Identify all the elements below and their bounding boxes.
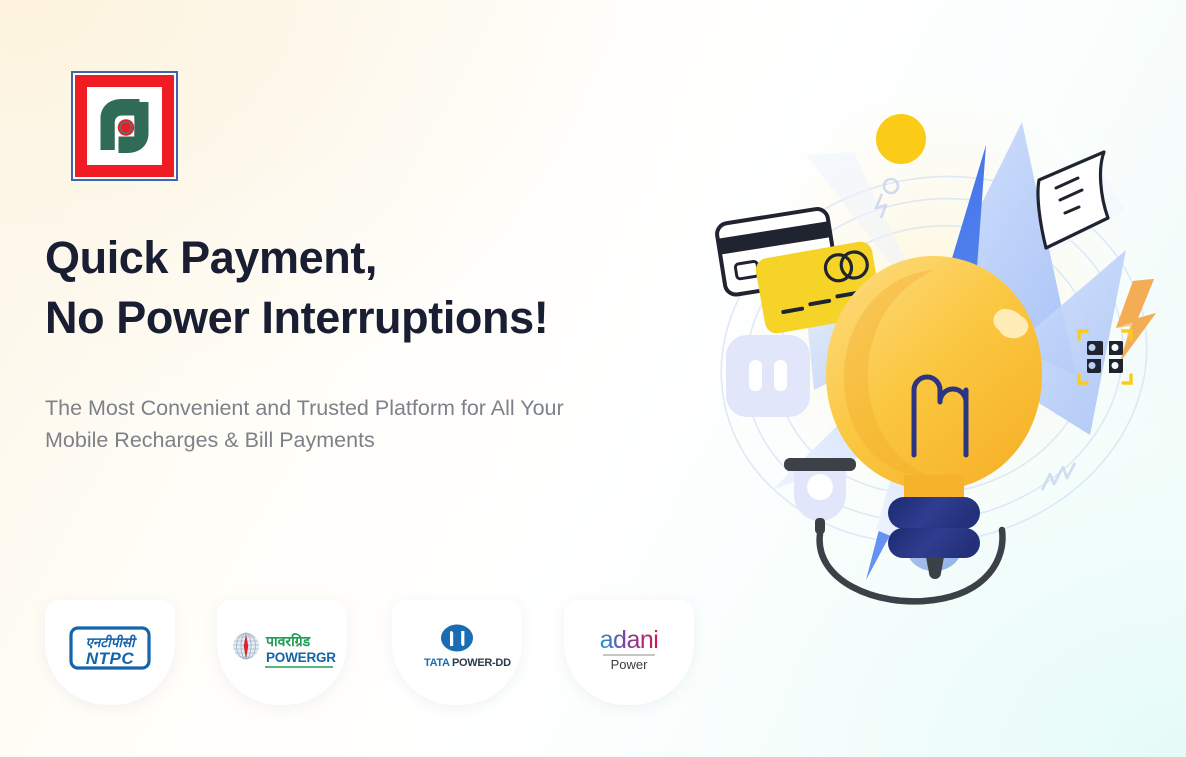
bharat-bill-pay-logo[interactable] [71,71,178,181]
hero-banner: Quick Payment, No Power Interruptions! T… [0,0,1186,757]
svg-text:NTPC: NTPC [86,649,135,668]
power-socket-icon [726,335,810,417]
logo-mark-icon [87,87,162,165]
headline-line-2: No Power Interruptions! [45,288,705,348]
svg-text:एनटीपीसी: एनटीपीसी [85,634,138,650]
partner-card-adani-power[interactable]: adani Power [564,600,694,705]
partner-card-ntpc[interactable]: एनटीपीसी NTPC [45,600,175,705]
svg-text:adani: adani [600,626,659,654]
yellow-dot [876,114,926,164]
partner-card-tata-power-ddl[interactable]: TATA POWER-DDL [392,600,522,705]
adani-power-logo-icon: adani Power [575,622,683,674]
bulb-payment-illustration [686,60,1186,620]
headline-line-1: Quick Payment, [45,232,377,283]
svg-text:पावरग्रिड: पावरग्रिड [265,633,311,649]
ntpc-logo-icon: एनटीपीसी NTPC [56,622,164,674]
page-title: Quick Payment, No Power Interruptions! [45,228,705,348]
svg-text:POWER-DDL: POWER-DDL [452,657,511,669]
svg-text:POWERGRID: POWERGRID [266,650,336,665]
partner-card-powergrid[interactable]: पावरग्रिड POWERGRID [217,600,347,705]
tata-power-ddl-logo-icon: TATA POWER-DDL [403,622,511,674]
svg-text:TATA: TATA [424,657,450,669]
page-subtitle: The Most Convenient and Trusted Platform… [45,392,605,456]
partner-logos: एनटीपीसी NTPC [45,600,745,710]
svg-text:Power: Power [611,657,649,672]
powergrid-logo-icon: पावरग्रिड POWERGRID [228,622,336,674]
